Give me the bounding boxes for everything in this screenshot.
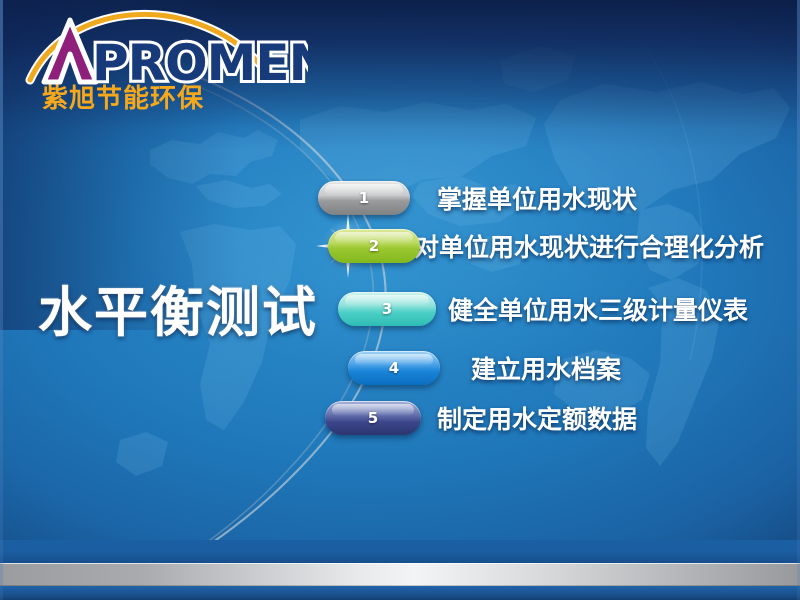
slide-canvas: PROMEN 紫旭节能环保 水平衡测试 1 掌握单位用水现状 — [0, 0, 800, 600]
step-badge[interactable]: 4 — [348, 351, 440, 385]
step-number: 5 — [368, 409, 378, 427]
bottom-silver-band — [0, 563, 800, 586]
list-item-label: 健全单位用水三级计量仪表 — [448, 291, 748, 327]
step-number: 1 — [359, 189, 369, 207]
page-title: 水平衡测试 — [38, 268, 318, 347]
list-item: 5 制定用水定额数据 — [325, 400, 637, 436]
list-item-label: 建立用水档案 — [471, 350, 621, 386]
step-badge[interactable]: 1 — [318, 181, 410, 215]
bottom-blue-band-lower — [0, 586, 800, 600]
step-number: 4 — [389, 359, 399, 377]
list-item: 4 建立用水档案 — [348, 350, 621, 386]
list-item: 3 健全单位用水三级计量仪表 — [338, 291, 748, 327]
list-item: 1 掌握单位用水现状 — [318, 180, 637, 216]
company-logo: PROMEN 紫旭节能环保 — [8, 6, 308, 114]
left-edge-line — [0, 0, 3, 600]
list-item: 2 对单位用水现状进行合理化分析 — [328, 228, 764, 264]
list-item-label: 掌握单位用水现状 — [437, 180, 637, 216]
step-badge[interactable]: 2 — [328, 229, 420, 263]
list-item-label: 制定用水定额数据 — [437, 400, 637, 436]
list-item-label: 对单位用水现状进行合理化分析 — [414, 228, 764, 264]
logo-chinese-text: 紫旭节能环保 — [42, 83, 204, 114]
step-number: 3 — [382, 300, 392, 318]
step-number: 2 — [369, 237, 379, 255]
step-badge[interactable]: 5 — [325, 401, 421, 435]
step-badge[interactable]: 3 — [338, 292, 436, 326]
bottom-blue-band-upper — [0, 540, 800, 563]
